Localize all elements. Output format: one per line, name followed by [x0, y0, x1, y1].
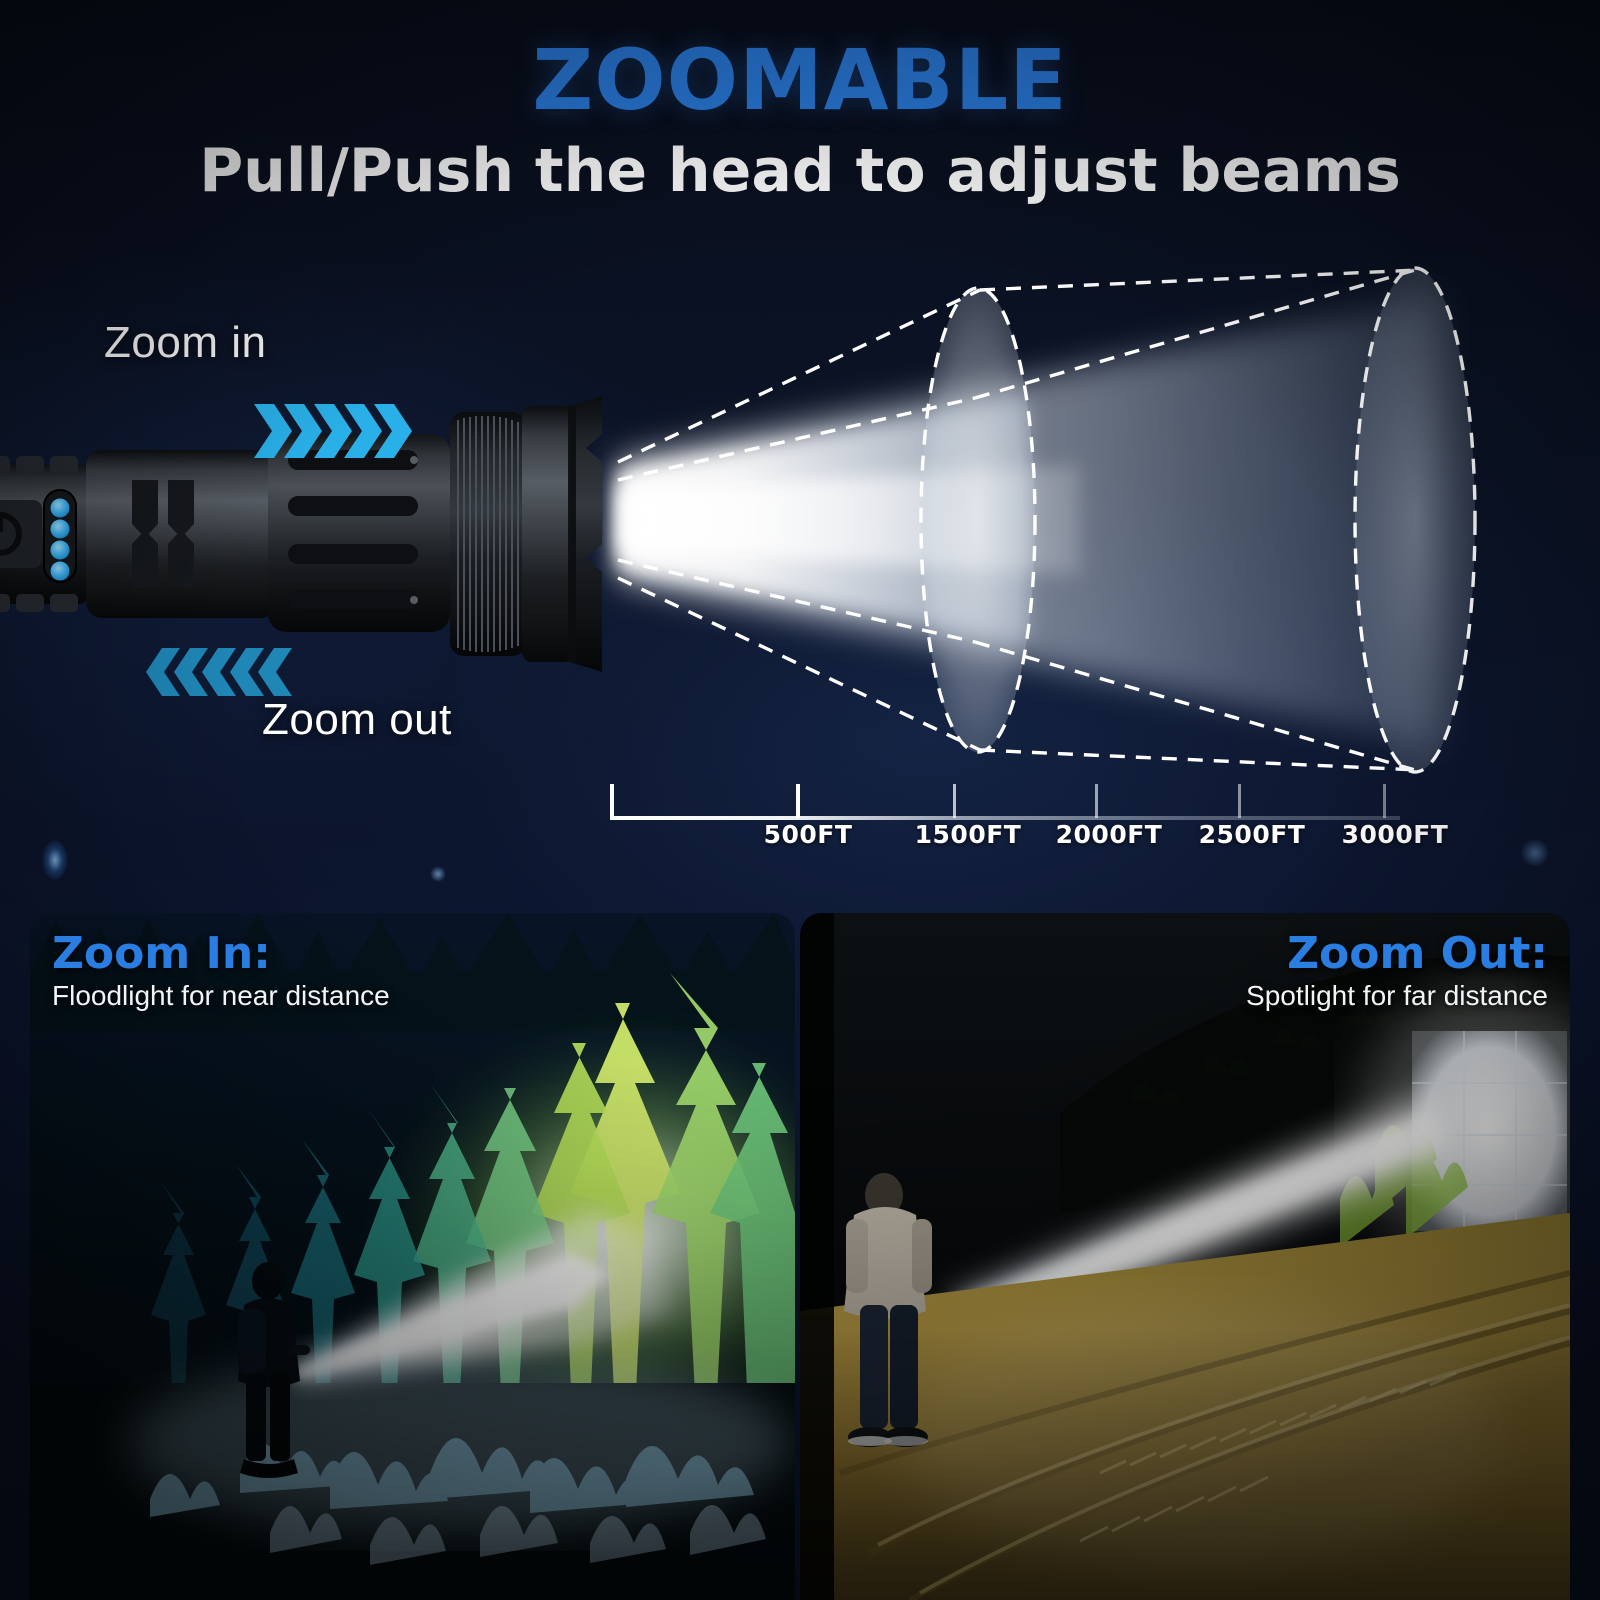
- flashlight-bezel-seam: [568, 406, 576, 662]
- panel-left-shadow-edge: [800, 913, 834, 1600]
- zoom-in-chevrons: [252, 400, 422, 462]
- tick-label: 2500FT: [1199, 820, 1306, 849]
- photo-panel-zoom-in: Zoom In: Floodlight for near distance: [30, 913, 795, 1600]
- zoom-out-chevrons: [134, 645, 294, 699]
- distance-scale: 500FT 1500FT 2000FT 2500FT 3000FT: [600, 778, 1400, 870]
- flashlight-head: [522, 406, 574, 662]
- header-block: ZOOMABLE Pull/Push the head to adjust be…: [0, 38, 1600, 203]
- beam-diagram: [560, 250, 1600, 790]
- ground-spill-light: [900, 1303, 1500, 1563]
- beam-svg: [560, 250, 1600, 790]
- page-title: ZOOMABLE: [0, 38, 1600, 122]
- forest-scene: [30, 913, 795, 1600]
- zoom-out-label: Zoom out: [262, 695, 452, 745]
- tick-label: 1500FT: [915, 820, 1022, 849]
- tick-label: 500FT: [764, 820, 853, 849]
- page-subtitle: Pull/Push the head to adjust beams: [0, 140, 1600, 203]
- tick-label: 2000FT: [1056, 820, 1163, 849]
- flashlight-screw: [410, 596, 418, 604]
- zoom-in-label: Zoom in: [104, 318, 266, 368]
- tick-label: 3000FT: [1342, 820, 1449, 849]
- dirt-track-scene: [800, 913, 1570, 1600]
- photo-panel-zoom-out: Zoom Out: Spotlight for far distance: [800, 913, 1570, 1600]
- product-feature-graphic: ZOOMABLE Pull/Push the head to adjust be…: [0, 0, 1600, 1600]
